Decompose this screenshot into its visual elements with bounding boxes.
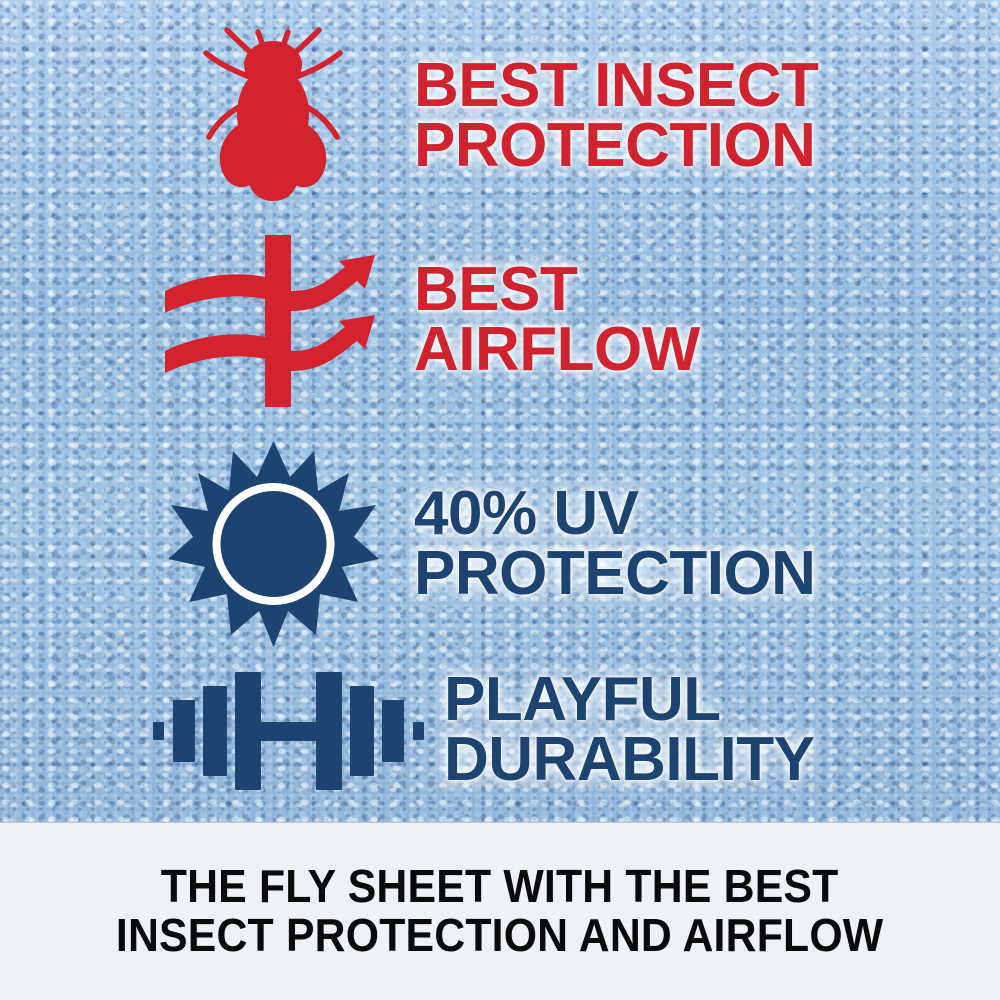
fly-icon [138,21,408,211]
airflow-through-barrier-icon [138,225,408,415]
caption-bar: THE FLY SHEET WITH THE BEST INSECT PROTE… [0,822,1000,1000]
feature-label-durability: PLAYFUL DURABILITY [444,670,814,789]
caption-text: THE FLY SHEET WITH THE BEST INSECT PROTE… [116,862,883,960]
feature-list: BEST INSECT PROTECTION [0,0,1000,822]
feature-label-insect-protection: BEST INSECT PROTECTION [414,56,818,175]
feature-row-insect-protection: BEST INSECT PROTECTION [138,18,998,214]
dumbbell-icon [138,655,438,805]
feature-row-uv-protection: 40% UV PROTECTION [138,436,998,651]
product-feature-poster: BEST INSECT PROTECTION [0,0,1000,1000]
feature-label-uv-protection: 40% UV PROTECTION [414,484,815,603]
feature-row-airflow: BEST AIRFLOW [138,222,998,418]
sun-icon [138,436,408,651]
feature-label-airflow: BEST AIRFLOW [414,260,700,379]
feature-row-durability: PLAYFUL DURABILITY [138,650,998,810]
